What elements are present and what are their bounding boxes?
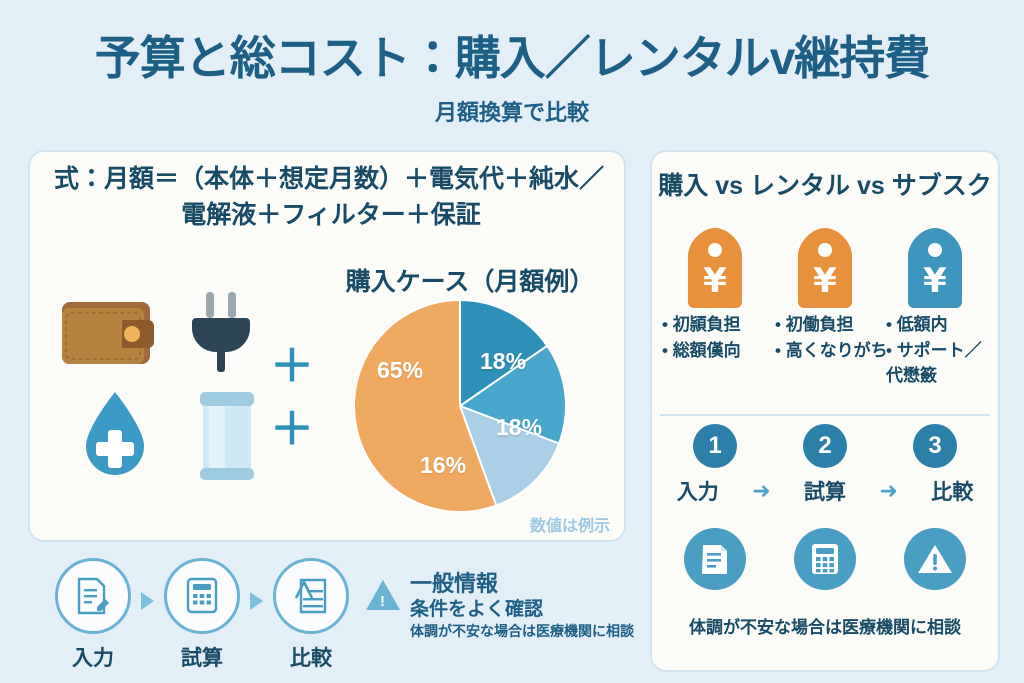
price-tags-row: ¥ ¥ ¥ <box>660 226 990 317</box>
pie-slice-label-2: 16% <box>420 452 466 479</box>
bullet-marker: • <box>775 341 781 360</box>
bullet-column-subscription: • 低額内 • サポート／代懋籢 <box>886 312 996 389</box>
bottom-note-fineprint: 体調が不安な場合は医療機関に相談 <box>410 621 634 641</box>
bullet-item: • サポート／代懋籢 <box>886 338 996 389</box>
right-circle-icons <box>660 528 990 590</box>
bottom-note-subtext: 条件をよく確認 <box>410 594 543 621</box>
flow-arrow-icon-1 <box>141 592 154 610</box>
bullet-text: サポート／代懋籢 <box>886 341 982 386</box>
formula-line-1: 式：月額＝（本体＋想定月数）＋電気代＋純水／ <box>48 162 614 198</box>
formula-text: 式：月額＝（本体＋想定月数）＋電気代＋純水／ 電解液＋フィルター＋保証 <box>48 162 614 233</box>
water-drop-plus-icon <box>78 390 152 483</box>
step-arrow-icon: ➜ <box>879 478 897 504</box>
bottom-flow: 入力 試算 <box>54 558 350 672</box>
wallet-icon <box>60 296 156 375</box>
formula-line-2: 電解液＋フィルター＋保証 <box>48 198 614 234</box>
step-label-2: 試算 <box>804 476 846 506</box>
price-tag-purchase: ¥ <box>684 226 746 317</box>
comparison-bullets: • 初頴負担 • 総額傼向 • 初働負担 • 高くなりがち • 低額内 <box>656 312 996 389</box>
svg-text:¥: ¥ <box>923 261 947 301</box>
bullet-column-rental: • 初働負担 • 高くなりがち <box>773 312 885 389</box>
pie-slice-label-1: 18% <box>496 414 542 441</box>
right-panel-note: 体調が不安な場合は医療機関に相談 <box>650 613 1000 638</box>
document-icon <box>684 528 746 590</box>
right-panel-divider <box>660 414 990 416</box>
bullet-text: 高くなりがち <box>786 341 888 360</box>
bullet-text: 初働負担 <box>786 315 854 334</box>
bullet-marker: • <box>662 315 668 334</box>
price-tag-subscription: ¥ <box>904 226 966 317</box>
steps-label-row: 入力 ➜ 試算 ➜ 比較 <box>660 476 990 506</box>
steps-number-row: 1 2 3 <box>660 424 990 468</box>
bullet-text: 低額内 <box>897 315 948 334</box>
power-plug-icon <box>188 292 254 379</box>
flow-arrow-icon-2 <box>250 592 263 610</box>
step-label-1: 入力 <box>677 476 719 506</box>
bullet-item: • 高くなりがち <box>775 338 885 364</box>
step-label-3: 比較 <box>931 476 973 506</box>
bullet-item: • 低額内 <box>886 312 996 338</box>
svg-text:¥: ¥ <box>703 261 727 301</box>
step-number-1: 1 <box>693 424 737 468</box>
document-pencil-icon <box>55 558 131 634</box>
step-arrow-icon: ➜ <box>752 478 770 504</box>
page-title: 予算と総コスト：購入／レンタルv継持費 <box>0 22 1024 88</box>
svg-text:¥: ¥ <box>813 261 837 301</box>
step-number-2: 2 <box>803 424 847 468</box>
calculator-icon <box>794 528 856 590</box>
bullet-marker: • <box>775 315 781 334</box>
pie-slice-label-3: 65% <box>377 357 423 384</box>
flow-step-compare: 比較 <box>272 558 350 672</box>
bullet-item: • 総額傼向 <box>662 338 772 364</box>
plus-sign-1: ＋ <box>270 345 314 389</box>
compare-title: 購入 vs レンタル vs サブスク <box>650 166 1000 202</box>
bullet-item: • 初働負担 <box>775 312 885 338</box>
bullet-column-purchase: • 初頴負担 • 総額傼向 <box>656 312 772 389</box>
flow-label-input: 入力 <box>72 642 114 672</box>
flow-label-compare: 比較 <box>290 642 332 672</box>
bullet-marker: • <box>662 341 668 360</box>
flow-step-calc: 試算 <box>163 558 241 672</box>
flow-step-input: 入力 <box>54 558 132 672</box>
pie-chart-note: 数値は例示 <box>430 512 610 536</box>
step-number-3: 3 <box>913 424 957 468</box>
plus-sign-2: ＋ <box>270 408 314 452</box>
checklist-icon <box>273 558 349 634</box>
flow-label-calc: 試算 <box>181 642 223 672</box>
pie-chart-title: 購入ケース（月額例） <box>330 262 610 298</box>
bullet-text: 初頴負担 <box>673 315 741 334</box>
bullet-marker: • <box>886 341 892 360</box>
bullet-marker: • <box>886 315 892 334</box>
pie-chart <box>352 298 568 514</box>
page-subtitle: 月額換算で比較 <box>0 95 1024 127</box>
bullet-item: • 初頴負担 <box>662 312 772 338</box>
infographic-root: 予算と総コスト：購入／レンタルv継持費 月額換算で比較 式：月額＝（本体＋想定月… <box>0 0 1024 683</box>
price-tag-rental: ¥ <box>794 226 856 317</box>
calculator-icon <box>164 558 240 634</box>
filter-cartridge-icon <box>198 390 256 487</box>
warning-bang: ! <box>380 594 385 609</box>
warning-icon <box>904 528 966 590</box>
pie-slice-label-0: 18% <box>480 348 526 375</box>
bullet-text: 総額傼向 <box>673 341 741 360</box>
